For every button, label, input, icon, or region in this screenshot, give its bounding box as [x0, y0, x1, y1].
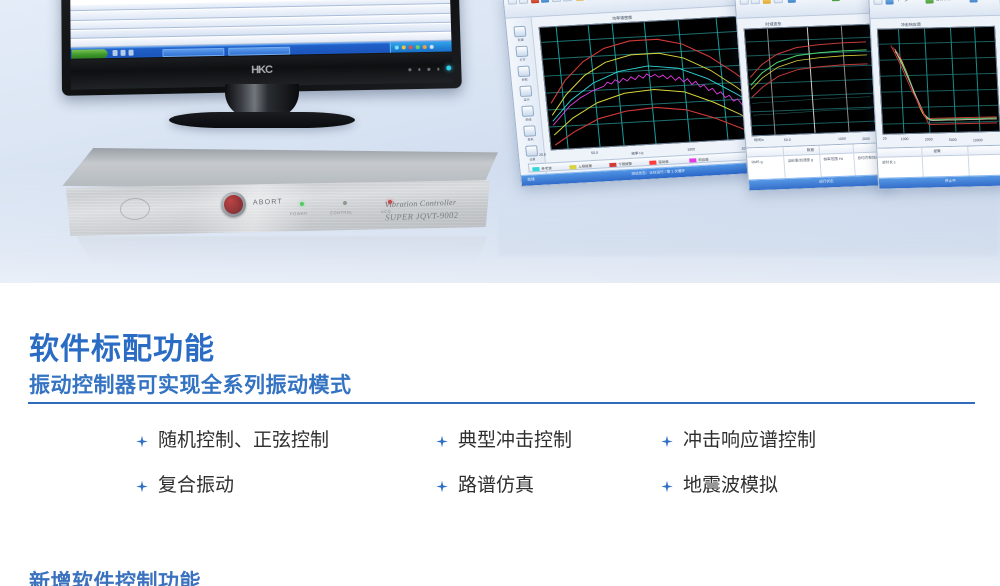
feature-row: 随机控制、正弦控制 典型冲击控制 冲击响应谱控制: [135, 425, 965, 452]
window2-table-header: 数据: [807, 147, 815, 152]
window2-xtick-0: 时间/s: [754, 138, 764, 143]
window3-xtick-3: 5000: [949, 138, 957, 142]
window1-curves: [540, 16, 761, 150]
feature-item: 冲击响应谱控制: [660, 425, 816, 452]
window3-xtick-4: 10000: [973, 138, 983, 142]
sparkle-icon: [660, 432, 674, 446]
feature-label: 复合振动: [158, 470, 234, 497]
window3-xtick-2: 2000: [925, 137, 933, 141]
sparkle-icon: [435, 477, 449, 491]
window2-cell-2: 频率范围 Hz: [823, 157, 843, 163]
quicklaunch-icon-2[interactable]: [121, 50, 126, 56]
window2-curves: [745, 25, 880, 137]
window3-plot: [877, 26, 1000, 135]
feature-label: 典型冲击控制: [458, 425, 572, 452]
software-window-srs[interactable]: 下一步 当前状态 试验报告 冲击响应谱: [868, 0, 1000, 190]
section-divider: [28, 402, 975, 404]
taskbar-window-2[interactable]: [228, 46, 290, 55]
hero-product-banner: 0.0010 1.0e-04: [0, 0, 1000, 283]
features-section: 软件标配功能 振动控制器可实现全系列振动模式 随机控制、正弦控制 典型冲击控制: [0, 283, 1000, 586]
page-subtitle: 振动控制器可实现全系列振动模式: [29, 369, 352, 399]
taskbar-window-1[interactable]: [162, 47, 224, 56]
window3-xtick-0: 20: [883, 137, 887, 141]
window3-xtick-1: 1000: [901, 137, 909, 141]
window2-xtick-2: 1000: [838, 137, 846, 141]
quicklaunch-icon-3[interactable]: [129, 50, 134, 56]
monitor-photo: 0.0010 1.0e-04: [62, 0, 462, 133]
sparkle-icon: [660, 477, 674, 491]
software-window-psd[interactable]: 运行(R) 当前状态 试验报告 新建 打开 参数 运行 曲线 报表 设置 功率谱…: [502, 0, 769, 187]
feature-label: 冲击响应谱控制: [683, 425, 816, 452]
feature-label: 地震波模拟: [683, 470, 778, 497]
window3-curves: [878, 27, 1000, 135]
window3-table-header: 报警: [933, 149, 940, 154]
window2-xtick-3: 2000: [862, 137, 870, 141]
window1-plot-title: 功率谱密度: [612, 15, 633, 22]
sparkle-icon: [135, 432, 149, 446]
window2-toolbar[interactable]: 运行状态 当前状态: [735, 0, 881, 19]
monitor-bezel: 0.0010 1.0e-04: [60, 0, 461, 96]
hero-floor-glow: [0, 163, 1000, 283]
page-title: 软件标配功能: [29, 324, 215, 368]
feature-item: 地震波模拟: [660, 470, 778, 497]
window2-plot: [744, 24, 880, 137]
next-section-title: 新增软件控制功能: [29, 566, 201, 586]
feature-label: 随机控制、正弦控制: [158, 425, 329, 452]
feature-item: 典型冲击控制: [435, 425, 660, 452]
feature-row: 复合振动 路谱仿真 地震波模拟: [135, 470, 965, 497]
sparkle-icon: [135, 477, 149, 491]
feature-label: 路谱仿真: [458, 470, 534, 497]
window2-xtick-1: 50.0: [784, 138, 791, 142]
window1-xtick-0: 20.0: [539, 153, 546, 157]
feature-item: 复合振动: [135, 470, 435, 497]
sparkle-icon: [435, 432, 449, 446]
window1-xaxis-label: 频率 Hz: [631, 151, 644, 157]
monitor-power-led: [446, 65, 451, 70]
monitor-screen: 0.0010 1.0e-04: [69, 0, 451, 59]
monitor-stand-base: [169, 112, 355, 128]
quicklaunch-icon-1[interactable]: [113, 50, 118, 56]
feature-list: 随机控制、正弦控制 典型冲击控制 冲击响应谱控制 复合振动: [135, 425, 965, 515]
window3-toolbar[interactable]: 下一步 当前状态 试验报告: [869, 0, 1000, 19]
window1-legend-6: 响应谱: [698, 157, 709, 163]
start-button[interactable]: [72, 49, 108, 59]
feature-item: 路谱仿真: [435, 470, 660, 497]
window1-xtick-2: 1000: [687, 147, 695, 151]
feature-item: 随机控制、正弦控制: [135, 425, 435, 452]
monitor-brand-logo: HKC: [251, 64, 272, 76]
window1-plot: [539, 15, 761, 150]
window1-xtick-1: 50.0: [591, 151, 598, 155]
